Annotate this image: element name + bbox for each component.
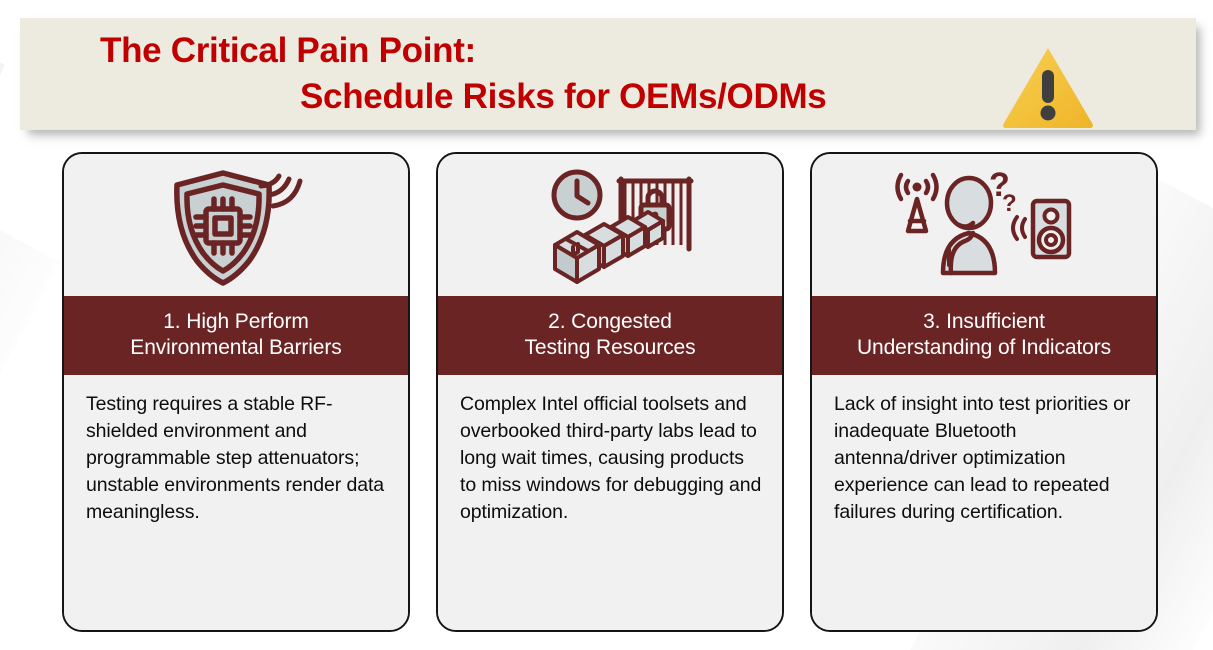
title-banner: The Critical Pain Point: Schedule Risks … bbox=[20, 18, 1196, 130]
pain-point-card-2[interactable]: 2. Congested Testing Resources Complex I… bbox=[436, 152, 784, 632]
clock-boxes-locked-gate-icon bbox=[438, 154, 782, 296]
card-header-line-2: Environmental Barriers bbox=[130, 336, 341, 359]
card-header-2: 2. Congested Testing Resources bbox=[438, 296, 782, 375]
card-header-line-2: Testing Resources bbox=[524, 336, 695, 359]
card-body-1: Testing requires a stable RF-shielded en… bbox=[64, 375, 408, 630]
warning-triangle-icon bbox=[1000, 44, 1096, 130]
title-line-1: The Critical Pain Point: bbox=[100, 28, 1000, 74]
antenna-confused-person-speaker-icon: ? ? bbox=[812, 154, 1156, 296]
card-header-line-1: 3. Insufficient bbox=[923, 310, 1045, 333]
pain-point-card-1[interactable]: 1. High Perform Environmental Barriers T… bbox=[62, 152, 410, 632]
card-body-3: Lack of insight into test priorities or … bbox=[812, 375, 1156, 630]
pain-point-cards-row: 1. High Perform Environmental Barriers T… bbox=[0, 152, 1213, 634]
card-header-line-1: 2. Congested bbox=[548, 310, 672, 333]
card-body-2: Complex Intel official toolsets and over… bbox=[438, 375, 782, 630]
shield-microchip-signal-icon bbox=[64, 154, 408, 296]
card-header-3: 3. Insufficient Understanding of Indicat… bbox=[812, 296, 1156, 375]
card-header-1: 1. High Perform Environmental Barriers bbox=[64, 296, 408, 375]
pain-point-card-3[interactable]: ? ? 3. Insufficient Understandin bbox=[810, 152, 1158, 632]
card-header-line-1: 1. High Perform bbox=[163, 310, 309, 333]
svg-text:?: ? bbox=[1002, 190, 1017, 217]
title-line-2: Schedule Risks for OEMs/ODMs bbox=[100, 74, 1000, 120]
card-header-line-2: Understanding of Indicators bbox=[857, 336, 1111, 359]
page-title: The Critical Pain Point: Schedule Risks … bbox=[100, 28, 1000, 120]
